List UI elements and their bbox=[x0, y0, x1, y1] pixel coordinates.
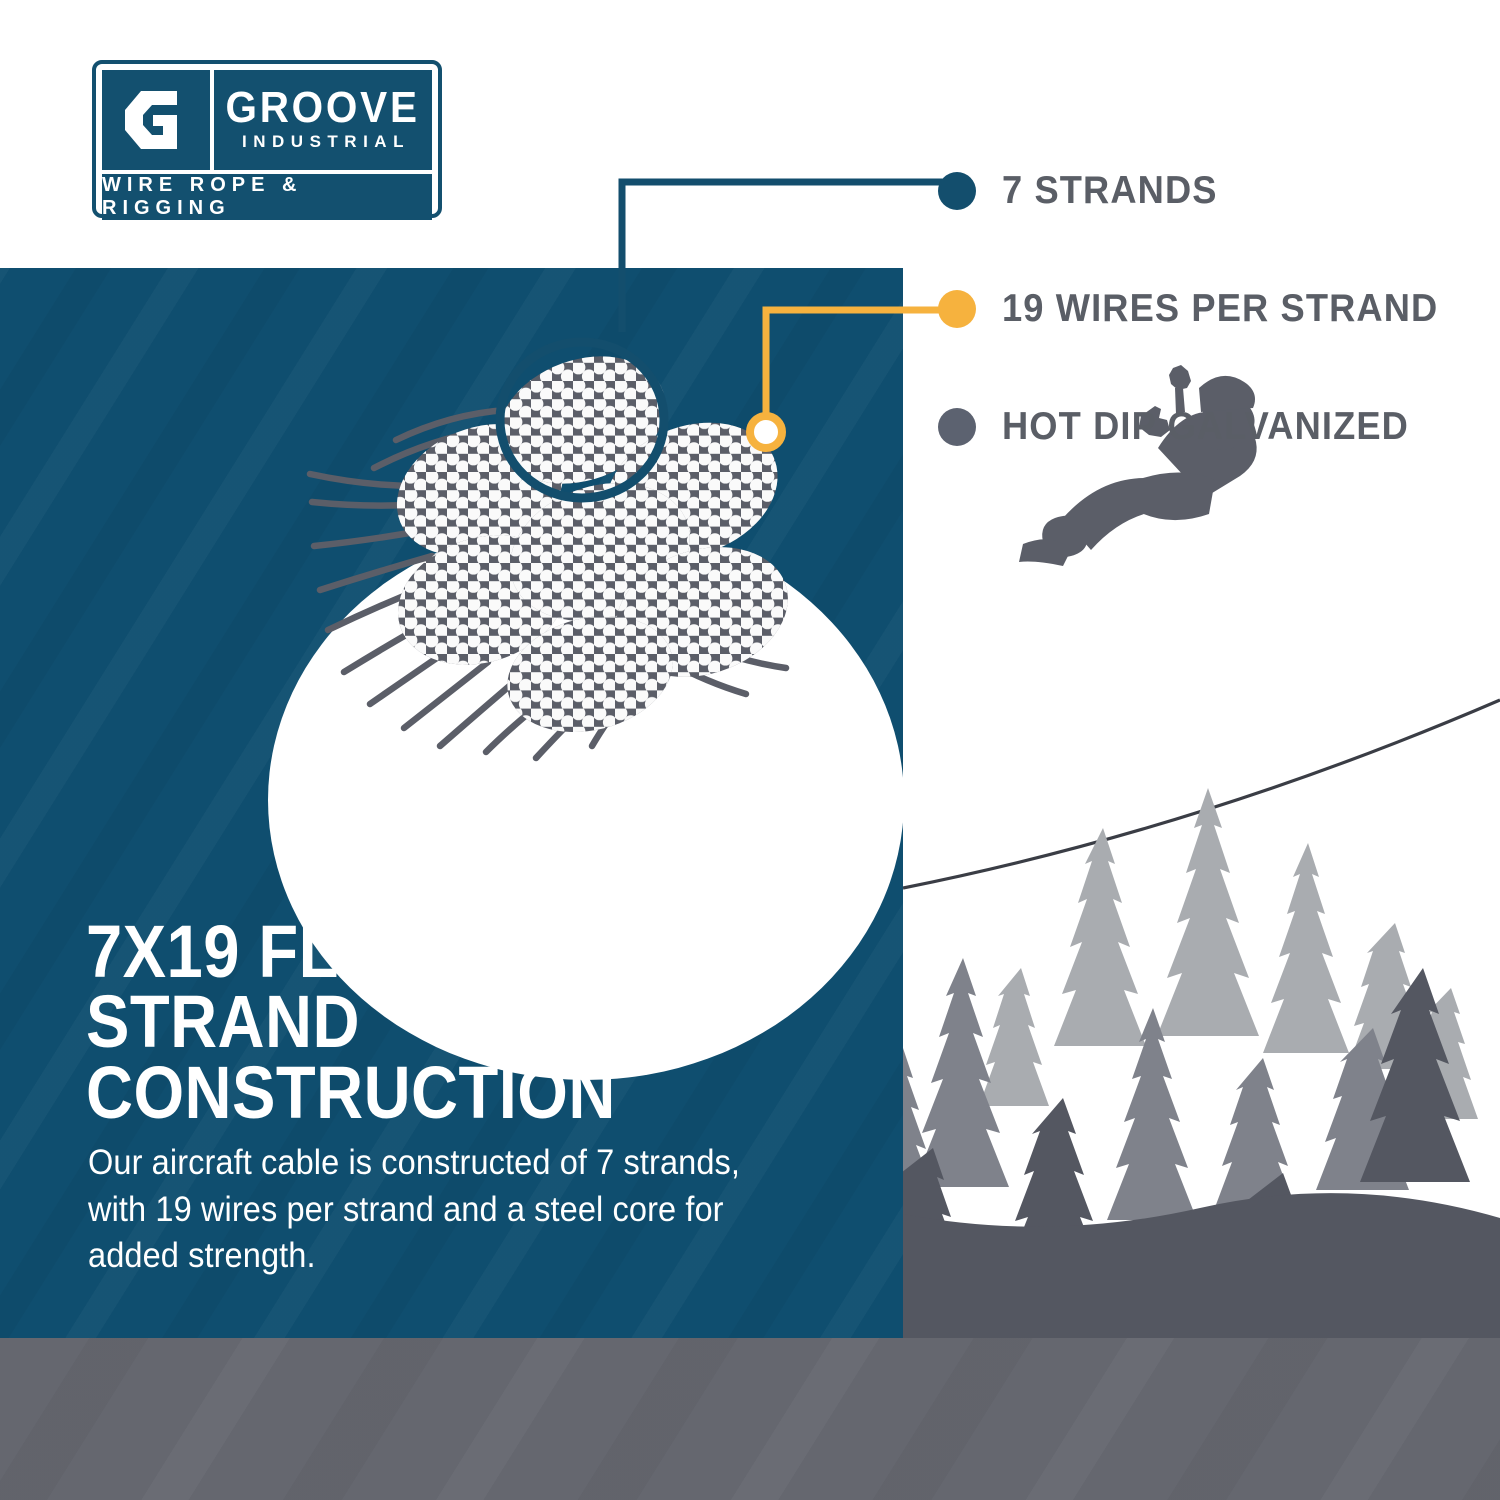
infographic-canvas: GROOVE INDUSTRIAL WIRE ROPE & RIGGING bbox=[0, 0, 1500, 1500]
logo-tagline: WIRE ROPE & RIGGING bbox=[102, 174, 432, 220]
callout-label: 7 STRANDS bbox=[1002, 169, 1218, 213]
callout-item-galvanized[interactable]: HOT DIP GALVANIZED bbox=[938, 396, 1478, 458]
wire-rope-cross-section-icon bbox=[300, 290, 860, 790]
callout-list: 7 STRANDS 19 WIRES PER STRAND HOT DIP GA… bbox=[938, 160, 1478, 458]
body-paragraph: Our aircraft cable is constructed of 7 s… bbox=[88, 1140, 758, 1280]
brand-logo: GROOVE INDUSTRIAL WIRE ROPE & RIGGING bbox=[92, 60, 442, 218]
callout-label: HOT DIP GALVANIZED bbox=[1002, 405, 1409, 449]
page-title: 7X19 FLEXIBLE STRAND CONSTRUCTION bbox=[86, 917, 781, 1128]
filled-dot-icon bbox=[938, 408, 976, 446]
callout-item-wires[interactable]: 19 WIRES PER STRAND bbox=[938, 278, 1478, 340]
logo-subtitle: INDUSTRIAL bbox=[236, 132, 410, 152]
bottom-gray-band bbox=[0, 1338, 1500, 1500]
filled-dot-icon bbox=[938, 172, 976, 210]
band-texture bbox=[0, 1338, 1500, 1500]
strands bbox=[377, 334, 806, 750]
logo-name: GROOVE bbox=[226, 88, 420, 128]
callout-label: 19 WIRES PER STRAND bbox=[1002, 287, 1438, 331]
headline-line-2: STRAND CONSTRUCTION bbox=[86, 987, 781, 1128]
callout-item-strands[interactable]: 7 STRANDS bbox=[938, 160, 1478, 222]
groove-g-monogram-icon bbox=[102, 70, 210, 170]
filled-dot-icon bbox=[938, 290, 976, 328]
